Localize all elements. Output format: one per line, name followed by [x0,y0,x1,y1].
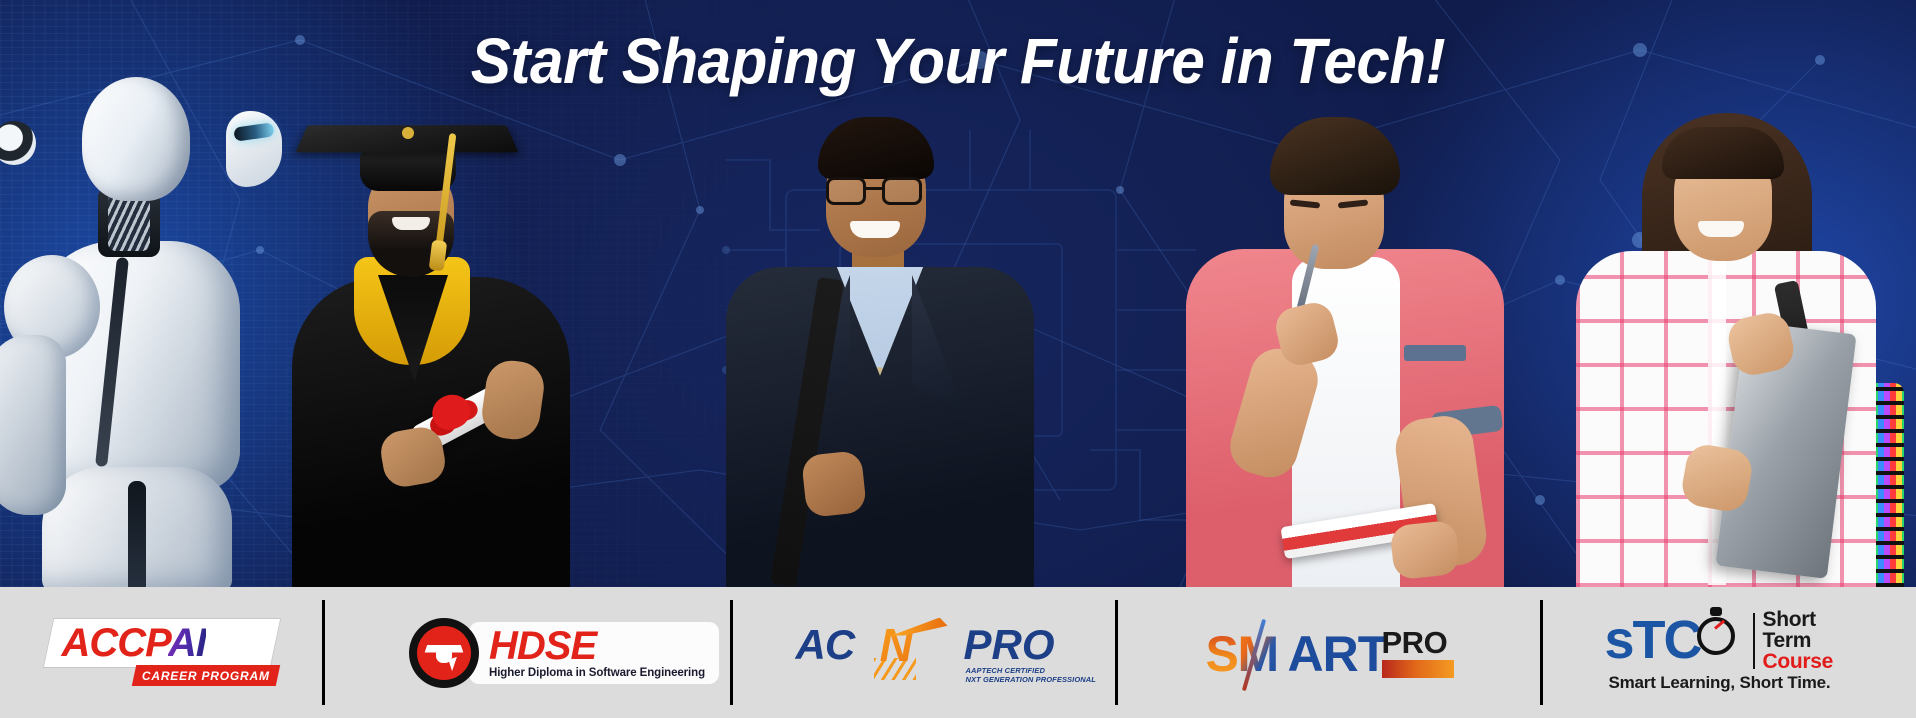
acn-pro-text: PRO [964,622,1055,668]
student-right-hand [1389,520,1460,581]
shirt-pocket-flap [1404,345,1466,361]
student-smile [1698,221,1744,237]
hero-section: Start Shaping Your Future in Tech! [0,0,1916,587]
hdse-tagline: Higher Diploma in Software Engineering [489,667,705,679]
laptop-student-figure [1580,109,1900,587]
stc-wordmark: sTC [1605,611,1701,669]
acn-prefix: AC [796,622,855,668]
businessman-hair [818,117,934,179]
accp-career-band: CAREER PROGRAM [131,665,279,686]
stopwatch-knob-icon [1710,607,1722,616]
ai-robot-figure [0,77,286,587]
accp-band-text: CAREER PROGRAM [142,668,270,682]
accp-ai-text: AI [168,621,206,665]
stopwatch-icon [1697,617,1735,655]
acn-tagline-line1: AAPTECH CERTIFIED [966,666,1045,675]
accp-main-text: ACCP [62,621,168,665]
note-taking-student-figure [1196,117,1496,587]
smart-letter-s: S [1206,628,1239,680]
smart-orange-bar [1382,660,1454,678]
stc-word-short: Short [1763,609,1834,630]
acn-tagline-line2: NXT GENERATION PROFESSIONAL [966,675,1097,684]
logo-smart-pro[interactable]: S M ART PRO [1118,587,1543,718]
stc-tagline: Smart Learning, Short Time. [1609,673,1831,693]
hdse-wordmark: HDSE [489,627,705,665]
graduation-cap-icon [425,645,464,652]
robot-ear [0,121,36,165]
student-hair [1270,117,1400,195]
promo-banner: Start Shaping Your Future in Tech! ACCPA… [0,0,1916,718]
logo-accp-ai[interactable]: ACCPAI CAREER PROGRAM [0,587,325,718]
hdse-badge [409,618,479,688]
stc-word-course: Course [1763,651,1834,672]
graduation-cap-button [402,127,414,139]
graduate-figure [286,107,576,587]
accp-wordmark: ACCPAI [62,620,206,666]
smart-art-text: ART [1288,628,1388,680]
stc-word-term: Term [1763,630,1834,651]
smart-pro-text: PRO [1382,626,1448,659]
businessman-hand [801,450,867,518]
program-logo-strip: ACCPAI CAREER PROGRAM HDSE [0,587,1916,718]
business-student-figure [730,117,1030,587]
logo-acn-pro[interactable]: AC N PRO AAPTECH CERTIFIED NXT GENERATIO… [733,587,1118,718]
cursor-arrow-icon [448,656,460,670]
stc-word-stack: Short Term Course [1763,609,1834,672]
headline-text: Start Shaping Your Future in Tech! [57,24,1858,98]
logo-hdse[interactable]: HDSE Higher Diploma in Software Engineer… [325,587,733,718]
businessman-smile [850,221,900,238]
eyeglasses-bridge [866,187,884,190]
robot-face [226,111,282,187]
student-hair-front [1662,127,1784,179]
eyeglasses-right-lens [882,177,922,205]
hdse-text-plate: HDSE Higher Diploma in Software Engineer… [469,622,719,684]
hdse-red-disc [417,626,471,680]
robot-center-seam [128,481,146,587]
graduation-cap-base [360,151,456,191]
stc-separator [1753,613,1755,669]
logo-stc[interactable]: sTC Short Term Course Smart Learning, Sh… [1543,587,1916,718]
graduate-smile [392,217,430,230]
robot-arm [0,335,66,515]
eyeglasses-left-lens [826,177,866,205]
